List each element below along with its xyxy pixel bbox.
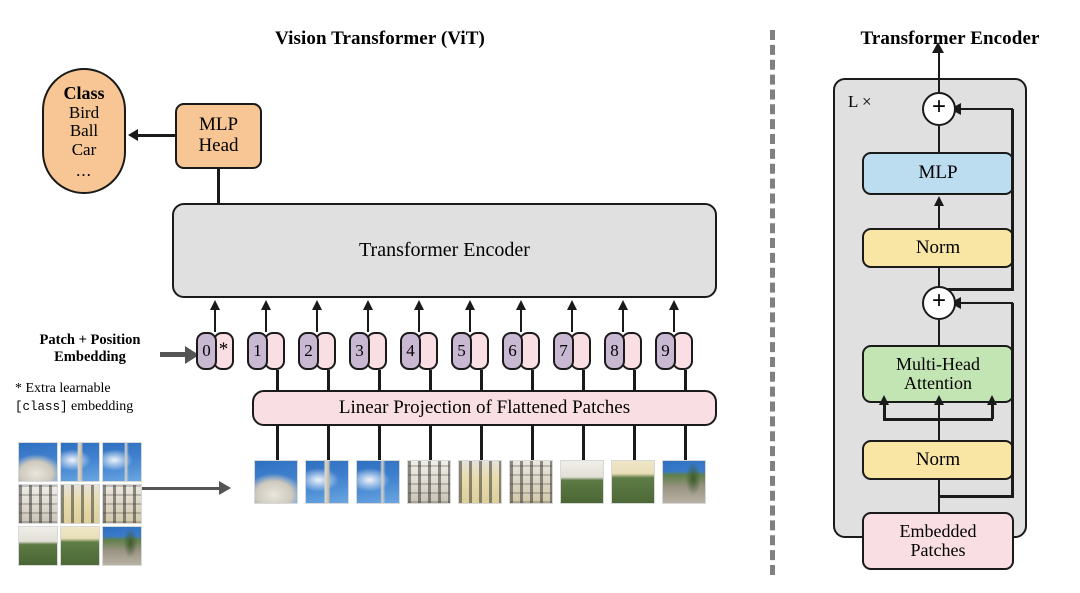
residual-bottom-vertical <box>1011 303 1014 497</box>
residual-top-horizontal-upper <box>958 108 1013 111</box>
residual-add-mid: + <box>922 286 956 320</box>
norm-top-block: Norm <box>862 228 1014 268</box>
token-6-to-encoder-arrow <box>520 309 523 332</box>
token-4: 4 <box>400 332 438 370</box>
residual-add-mid-symbol: + <box>932 289 946 313</box>
flattened-patch-6 <box>509 460 553 504</box>
source-patch-r1-c1 <box>60 484 100 524</box>
grid-to-sequence-arrow <box>142 487 220 490</box>
token-4-to-projection-line <box>429 370 432 390</box>
mha-to-add-line <box>938 320 941 347</box>
flattened-patch-7 <box>560 460 604 504</box>
embedding-label-line2: Embedding <box>10 349 170 366</box>
class-item-car: Car <box>72 141 97 159</box>
qkv-arrow-value <box>991 404 994 419</box>
token-1-to-projection-line <box>276 370 279 390</box>
token-9-to-projection-line <box>684 370 687 390</box>
residual-bottom-horizontal-upper <box>958 302 1013 305</box>
token-0-to-encoder-arrow <box>214 309 217 332</box>
flattened-patch-8 <box>611 460 655 504</box>
source-patch-r0-c0 <box>18 442 58 482</box>
norm-bottom-label: Norm <box>916 450 960 471</box>
mlp-block-label: MLP <box>918 163 957 184</box>
token-3: 3 <box>349 332 387 370</box>
residual-add-top: + <box>922 92 956 126</box>
qkv-arrow-key <box>938 404 941 419</box>
mha-line1: Multi-Head <box>896 355 980 374</box>
class-box-ellipsis: ... <box>76 162 92 180</box>
footnote-line2-tail: embedding <box>68 399 134 414</box>
token-2: 2 <box>298 332 336 370</box>
projection-to-patch-8-line <box>633 426 636 460</box>
footnote-line1: * Extra learnable <box>15 380 185 398</box>
left-panel-title: Vision Transformer (ViT) <box>190 28 570 50</box>
encoder-output-arrowhead <box>932 42 944 53</box>
token-9: 9 <box>655 332 693 370</box>
linear-projection-bar: Linear Projection of Flattened Patches <box>252 390 717 426</box>
footnote-line2: [class] embedding <box>15 398 185 416</box>
projection-to-patch-9-line <box>684 426 687 460</box>
source-patch-r2-c1 <box>60 526 100 566</box>
token-8: 8 <box>604 332 642 370</box>
mlp-head-line2: Head <box>198 136 238 157</box>
flattened-patch-1 <box>254 460 298 504</box>
token-1: 1 <box>247 332 285 370</box>
token-5: 5 <box>451 332 489 370</box>
mlp-block: MLP <box>862 152 1014 195</box>
patch-position-embedding-label: Patch + Position Embedding <box>10 332 170 366</box>
mlp-head-box: MLP Head <box>175 103 262 169</box>
token-7-to-encoder-arrow <box>571 309 574 332</box>
residual-add-top-symbol: + <box>932 95 946 119</box>
token-1-index: 1 <box>247 332 268 370</box>
flattened-patch-2 <box>305 460 349 504</box>
token-8-to-encoder-arrow <box>622 309 625 332</box>
token-5-to-projection-line <box>480 370 483 390</box>
mlp-head-to-class-arrow <box>137 134 175 137</box>
projection-to-patch-6-line <box>531 426 534 460</box>
token-3-index: 3 <box>349 332 370 370</box>
token-6: 6 <box>502 332 540 370</box>
token-7-index: 7 <box>553 332 574 370</box>
source-patch-r0-c1 <box>60 442 100 482</box>
linear-projection-label: Linear Projection of Flattened Patches <box>339 398 630 419</box>
class-item-bird: Bird <box>69 104 99 122</box>
token-7-to-projection-line <box>582 370 585 390</box>
class-output-box: Class Bird Ball Car ... <box>42 68 126 194</box>
token-6-to-projection-line <box>531 370 534 390</box>
right-panel-title: Transformer Encoder <box>825 28 1075 50</box>
token-2-to-projection-line <box>327 370 330 390</box>
token-4-index: 4 <box>400 332 421 370</box>
flattened-patch-3 <box>356 460 400 504</box>
token-9-index: 9 <box>655 332 676 370</box>
token-2-to-encoder-arrow <box>316 309 319 332</box>
repeat-count-label: L × <box>848 92 872 112</box>
token-0-index: 0 <box>196 332 217 370</box>
flattened-patch-5 <box>458 460 502 504</box>
embedded-patches-block: Embedded Patches <box>862 512 1014 570</box>
qkv-arrow-query <box>883 404 886 419</box>
transformer-encoder-bar: Transformer Encoder <box>172 203 717 298</box>
token-8-index: 8 <box>604 332 625 370</box>
panel-divider <box>770 30 775 575</box>
mha-line2: Attention <box>904 374 972 393</box>
projection-to-patch-2-line <box>327 426 330 460</box>
token-5-index: 5 <box>451 332 472 370</box>
footnote-mono-token: [class] <box>15 400 68 414</box>
projection-to-patch-7-line <box>582 426 585 460</box>
token-9-to-encoder-arrow <box>673 309 676 332</box>
projection-to-patch-3-line <box>378 426 381 460</box>
token-4-to-encoder-arrow <box>418 309 421 332</box>
source-patch-r2-c2 <box>102 526 142 566</box>
embedding-label-line1: Patch + Position <box>10 332 170 349</box>
token-6-index: 6 <box>502 332 523 370</box>
class-item-ball: Ball <box>70 122 98 140</box>
token-8-to-projection-line <box>633 370 636 390</box>
source-patch-r0-c2 <box>102 442 142 482</box>
token-7: 7 <box>553 332 591 370</box>
projection-to-patch-5-line <box>480 426 483 460</box>
flattened-patch-4 <box>407 460 451 504</box>
diagram-canvas: Vision Transformer (ViT) Transformer Enc… <box>0 0 1080 593</box>
residual-top-vertical <box>1011 109 1014 290</box>
residual-bottom-horizontal-lower <box>938 495 1014 498</box>
norm-bottom-to-qkv-line <box>938 418 941 440</box>
mlp-head-line1: MLP <box>199 115 238 136</box>
projection-to-patch-4-line <box>429 426 432 460</box>
embedded-patches-line2: Patches <box>911 541 966 560</box>
norm-top-label: Norm <box>916 238 960 259</box>
source-patch-r1-c2 <box>102 484 142 524</box>
projection-to-patch-1-line <box>276 426 279 460</box>
token-0: 0* <box>196 332 234 370</box>
mlp-head-to-encoder-line <box>217 169 220 203</box>
token-3-to-projection-line <box>378 370 381 390</box>
embedding-label-arrow <box>160 352 186 357</box>
mlp-to-add-line <box>938 126 941 154</box>
token-5-to-encoder-arrow <box>469 309 472 332</box>
token-1-to-encoder-arrow <box>265 309 268 332</box>
source-patch-r2-c0 <box>18 526 58 566</box>
flattened-patch-9 <box>662 460 706 504</box>
embedded-patches-line1: Embedded <box>900 522 977 541</box>
norm-bottom-block: Norm <box>862 440 1014 480</box>
token-2-index: 2 <box>298 332 319 370</box>
source-patch-r1-c0 <box>18 484 58 524</box>
token-3-to-encoder-arrow <box>367 309 370 332</box>
class-embedding-footnote: * Extra learnable [class] embedding <box>15 380 185 415</box>
norm-top-to-mlp-arrow <box>938 205 941 228</box>
class-box-header: Class <box>63 84 104 103</box>
transformer-encoder-bar-label: Transformer Encoder <box>359 240 530 262</box>
